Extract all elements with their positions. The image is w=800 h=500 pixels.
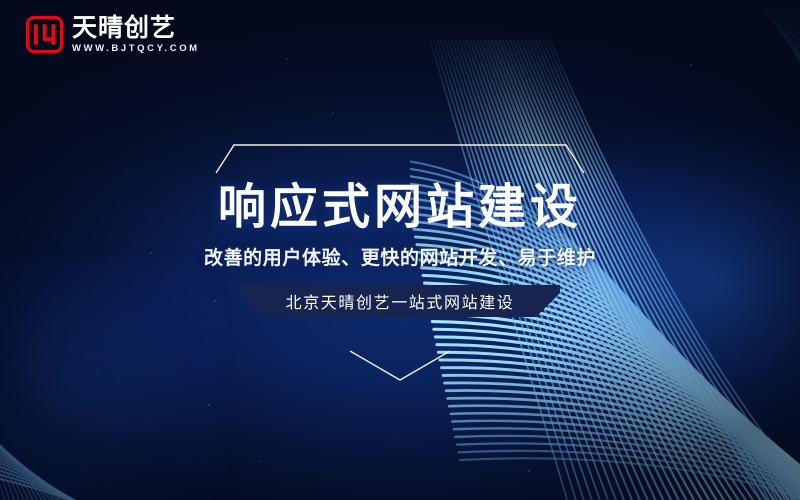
brand-url: WWW.BJTQCY.COM bbox=[72, 44, 200, 54]
page-title: 响应式网站建设 bbox=[218, 182, 582, 235]
brand-logo[interactable]: 天晴创艺 WWW.BJTQCY.COM bbox=[26, 16, 200, 54]
brand-name: 天晴创艺 bbox=[72, 16, 200, 41]
hero-subtitle: 改善的用户体验、更快的网站开发、易于维护 bbox=[204, 248, 596, 271]
trapezoid-rule-decoration bbox=[210, 140, 590, 178]
tagline-text: 北京天晴创艺一站式网站建设 bbox=[240, 285, 560, 317]
hero-banner: 天晴创艺 WWW.BJTQCY.COM 响应式网站建设 改善的用户体验、更快的网… bbox=[0, 0, 800, 500]
hero-content: 响应式网站建设 改善的用户体验、更快的网站开发、易于维护 北京天晴创艺一站式网站… bbox=[0, 140, 800, 383]
chevron-down-decoration bbox=[347, 349, 453, 383]
tagline-banner: 北京天晴创艺一站式网站建设 bbox=[240, 285, 560, 317]
tianqing-chuangyi-logo-icon bbox=[26, 16, 63, 53]
